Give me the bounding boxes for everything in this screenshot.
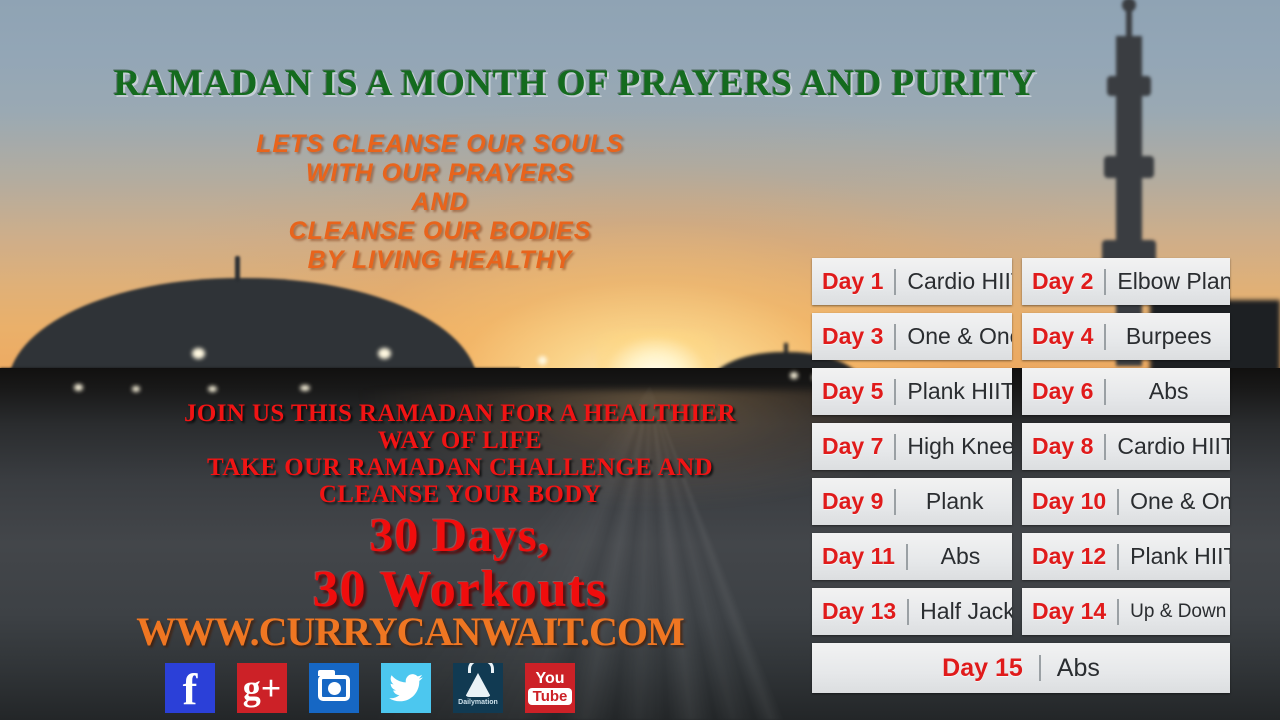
workout-name: Abs <box>1117 378 1220 405</box>
day-label: Day 10 <box>1032 488 1106 515</box>
card-divider <box>1117 544 1119 570</box>
workout-day-card[interactable]: Day 11Abs <box>812 533 1012 580</box>
workout-day-card[interactable]: Day 8Cardio HIIT <box>1022 423 1230 470</box>
callout-line-3: TAKE OUR RAMADAN CHALLENGE AND <box>60 454 860 481</box>
day-label: Day 7 <box>822 433 883 460</box>
dailymotion-icon[interactable]: Dailymation <box>453 663 503 713</box>
card-divider <box>907 599 909 625</box>
workout-name: Elbow Plank <box>1117 268 1230 295</box>
day-label: Day 14 <box>1032 598 1106 625</box>
headline-30-days: 30 Days, <box>60 508 860 563</box>
workout-day-card[interactable]: Day 7High Knees <box>812 423 1012 470</box>
card-divider <box>1104 434 1106 460</box>
callout-line-4: CLEANSE YOUR BODY <box>60 481 860 508</box>
workout-schedule: Day 1Cardio HIITDay 2Elbow PlankDay 3One… <box>812 258 1230 701</box>
page-title: RAMADAN IS A MONTH OF PRAYERS AND PURITY <box>0 62 1150 105</box>
plaza-lamp <box>74 384 83 391</box>
plaza-lamp <box>790 372 798 379</box>
day-label: Day 8 <box>1032 433 1093 460</box>
google-plus-icon[interactable]: g+ <box>237 663 287 713</box>
tagline-block: LETS CLEANSE OUR SOULS WITH OUR PRAYERS … <box>140 130 740 275</box>
dome-spotlight <box>192 348 205 359</box>
workout-day-card[interactable]: Day 4Burpees <box>1022 313 1230 360</box>
workout-name: One & One <box>907 323 1012 350</box>
card-divider <box>894 434 896 460</box>
day-label: Day 4 <box>1032 323 1093 350</box>
camera-glyph <box>318 675 350 701</box>
day-label: Day 9 <box>822 488 883 515</box>
workout-name: Burpees <box>1117 323 1220 350</box>
day-label: Day 6 <box>1032 378 1093 405</box>
card-divider <box>1104 269 1106 295</box>
day-label: Day 1 <box>822 268 883 295</box>
workout-name: Cardio HIIT <box>907 268 1012 295</box>
day-label: Day 13 <box>822 598 896 625</box>
plaza-lamp <box>538 356 547 365</box>
workout-day-card[interactable]: Day 14Up & Down Planks <box>1022 588 1230 635</box>
facebook-glyph: f <box>183 668 198 712</box>
workout-day-card[interactable]: Day 13Half Jacks <box>812 588 1012 635</box>
dailymotion-glyph <box>465 673 491 697</box>
callout-block: JOIN US THIS RAMADAN FOR A HEALTHIER WAY… <box>60 400 860 508</box>
youtube-label-bottom: Tube <box>528 688 573 705</box>
plaza-lamp <box>132 386 140 392</box>
promo-graphic: RAMADAN IS A MONTH OF PRAYERS AND PURITY… <box>0 0 1280 720</box>
workout-name: One & One <box>1130 488 1230 515</box>
workout-day-card[interactable]: Day 2Elbow Plank <box>1022 258 1230 305</box>
workout-name: Plank <box>907 488 1002 515</box>
plaza-lamp <box>300 385 310 391</box>
plaza-lamp <box>208 386 217 392</box>
card-divider <box>894 379 896 405</box>
workout-day-card[interactable]: Day 9Plank <box>812 478 1012 525</box>
card-divider <box>1117 599 1119 625</box>
day-label: Day 11 <box>822 543 895 570</box>
card-divider <box>894 269 896 295</box>
youtube-label-top: You <box>535 671 564 687</box>
card-divider <box>894 324 896 350</box>
workout-day-card[interactable]: Day 3One & One <box>812 313 1012 360</box>
day-label: Day 5 <box>822 378 883 405</box>
social-links: f g+ Dailymation You Tube <box>165 663 575 713</box>
dailymotion-label: Dailymation <box>458 699 498 706</box>
workout-name: Plank HIIT <box>1130 543 1230 570</box>
card-divider <box>1039 655 1041 681</box>
youtube-icon[interactable]: You Tube <box>525 663 575 713</box>
tagline-line-2: WITH OUR PRAYERS <box>140 159 740 188</box>
tagline-line-5: BY LIVING HEALTHY <box>140 246 740 275</box>
google-plus-glyph: g+ <box>243 670 282 706</box>
workout-day-card[interactable]: Day 6Abs <box>1022 368 1230 415</box>
card-divider <box>906 544 908 570</box>
tagline-line-1: LETS CLEANSE OUR SOULS <box>140 130 740 159</box>
day-label: Day 3 <box>822 323 883 350</box>
workout-name: Abs <box>1057 654 1100 683</box>
instagram-icon[interactable] <box>309 663 359 713</box>
workout-day-card[interactable]: Day 10One & One <box>1022 478 1230 525</box>
workout-day-card[interactable]: Day 1Cardio HIIT <box>812 258 1012 305</box>
dome-spotlight <box>378 348 391 359</box>
twitter-icon[interactable] <box>381 663 431 713</box>
day-label: Day 12 <box>1032 543 1106 570</box>
callout-line-2: WAY OF LIFE <box>60 427 860 454</box>
callout-line-1: JOIN US THIS RAMADAN FOR A HEALTHIER <box>60 400 860 427</box>
card-divider <box>894 489 896 515</box>
workout-name: Cardio HIIT <box>1117 433 1230 460</box>
twitter-bird-glyph <box>389 674 423 702</box>
card-divider <box>1117 489 1119 515</box>
workout-name: Abs <box>919 543 1002 570</box>
card-divider <box>1104 379 1106 405</box>
website-url[interactable]: WWW.CURRYCANWAIT.COM <box>0 608 820 655</box>
day-label: Day 2 <box>1032 268 1093 295</box>
tagline-line-4: CLEANSE OUR BODIES <box>140 217 740 246</box>
tagline-line-3: AND <box>140 188 740 217</box>
workout-day-card[interactable]: Day 15Abs <box>812 643 1230 693</box>
day-label: Day 15 <box>942 654 1023 683</box>
workout-day-card[interactable]: Day 12Plank HIIT <box>1022 533 1230 580</box>
workout-name: Half Jacks <box>920 598 1012 625</box>
facebook-icon[interactable]: f <box>165 663 215 713</box>
workout-day-card[interactable]: Day 5Plank HIIT <box>812 368 1012 415</box>
card-divider <box>1104 324 1106 350</box>
workout-name: Plank HIIT <box>907 378 1012 405</box>
workout-name: High Knees <box>907 433 1012 460</box>
workout-name: Up & Down Planks <box>1130 601 1230 623</box>
